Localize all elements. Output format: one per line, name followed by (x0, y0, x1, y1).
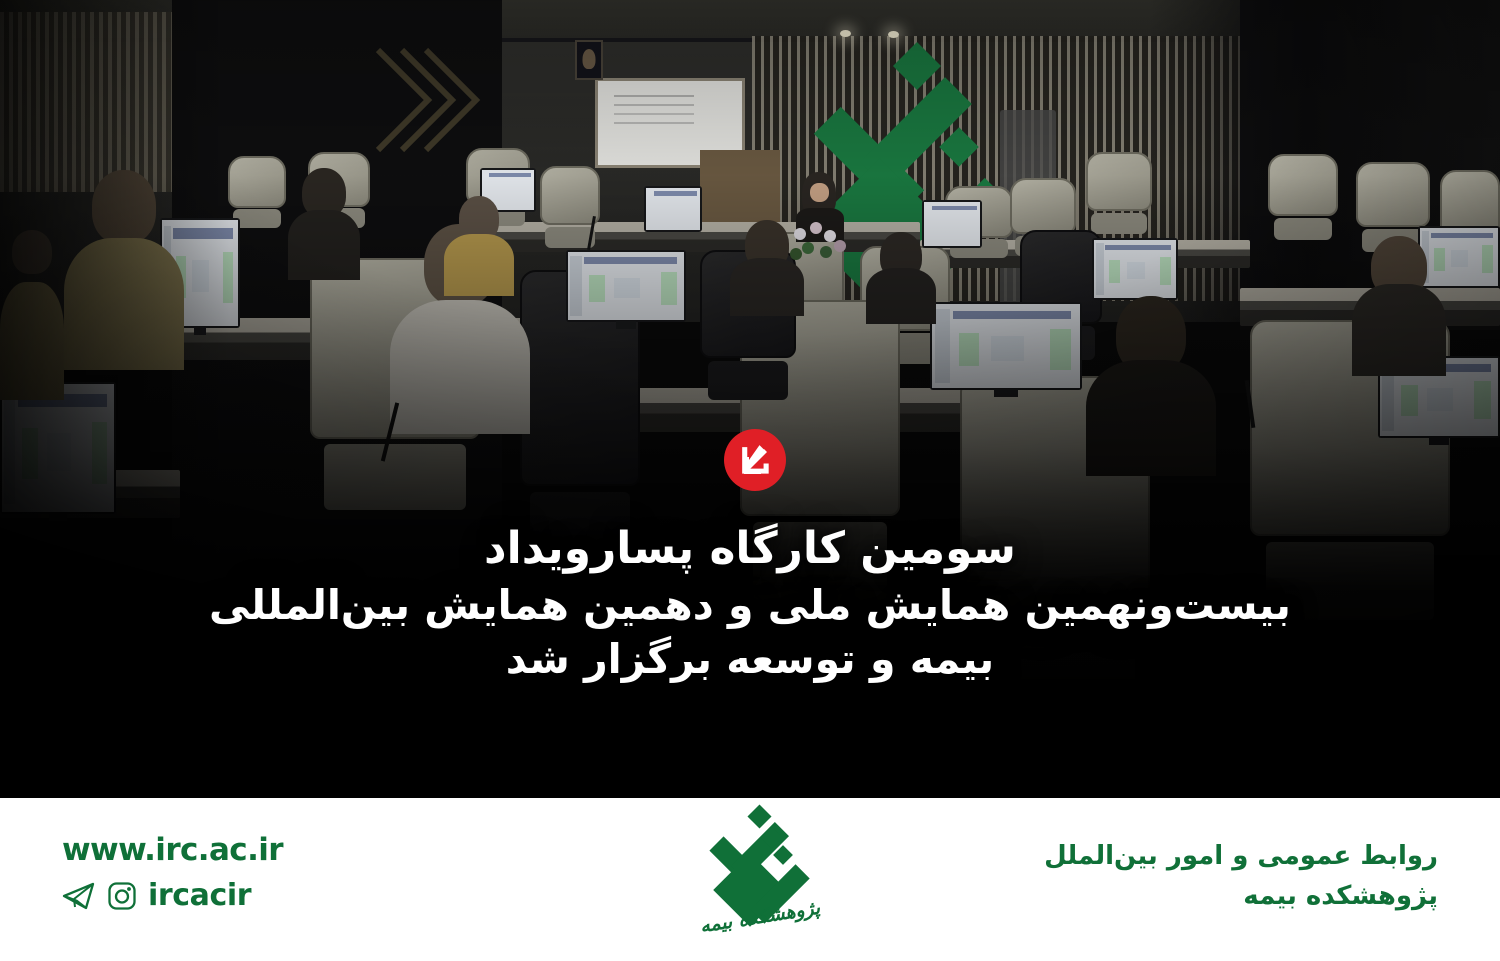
presentation-monitor (0, 382, 116, 514)
presentation-monitor (930, 302, 1082, 390)
headline-line-2: بیست‌ونهمین همایش ملی و دهمین همایش بین‌… (0, 578, 1500, 632)
flower (810, 222, 822, 234)
flower (824, 230, 836, 242)
headline-line-3: بیمه و توسعه برگزار شد (0, 632, 1500, 686)
chair (1086, 152, 1152, 234)
flower (834, 240, 846, 252)
presentation-monitor (1092, 238, 1178, 300)
presentation-monitor (566, 250, 686, 322)
down-left-arrow-badge (724, 429, 786, 491)
wall-slats-left (0, 12, 175, 192)
whiteboard-writing (614, 95, 694, 97)
presentation-monitor (644, 186, 702, 232)
head (12, 230, 52, 274)
torso (288, 210, 360, 280)
audience-member (0, 230, 64, 400)
flower (794, 228, 806, 240)
audience-member (64, 170, 184, 370)
flower (790, 248, 802, 260)
headline-block: سومین کارگاه پسارویداد بیست‌ونهمین همایش… (0, 520, 1500, 686)
insurance-research-center-logo: پژوهشکده بیمه (698, 814, 822, 946)
footer-bar: www.irc.ac.ir ircacir پژوهش (0, 798, 1500, 961)
social-handle[interactable]: ircacir (148, 878, 251, 913)
headline-line-1: سومین کارگاه پسارویداد (0, 520, 1500, 578)
torso (64, 238, 184, 370)
logo-diamonds (706, 814, 814, 910)
audience-member (288, 168, 360, 280)
audience-member (1352, 236, 1446, 376)
ceiling-spotlight (888, 31, 899, 38)
social-row: ircacir (62, 878, 283, 913)
podium (700, 150, 780, 230)
audience-member (1086, 296, 1216, 476)
flower (802, 242, 814, 254)
framed-portrait (575, 40, 603, 80)
arrow-down-left-icon (737, 442, 773, 478)
website-link[interactable]: www.irc.ac.ir (62, 832, 283, 868)
poster-root: سومین کارگاه پسارویداد بیست‌ونهمین همایش… (0, 0, 1500, 961)
torso (390, 300, 530, 434)
head (92, 170, 156, 244)
audience-member (866, 232, 936, 324)
chair (1268, 154, 1338, 240)
portrait-face (583, 49, 596, 69)
telegram-icon[interactable] (62, 881, 96, 911)
department-line-2: پژوهشکده بیمه (1044, 876, 1438, 916)
ceiling-spotlight (840, 30, 851, 37)
torso (866, 268, 936, 324)
flower-bouquet (790, 222, 850, 274)
department-line-1: روابط عمومی و امور بین‌الملل (1044, 836, 1438, 876)
flower (820, 246, 832, 258)
torso (1086, 360, 1216, 476)
footer-contact-block: www.irc.ac.ir ircacir (62, 832, 283, 913)
torso (444, 234, 514, 296)
audience-member (444, 196, 514, 296)
instagram-icon[interactable] (107, 881, 137, 911)
torso (0, 282, 64, 400)
footer-department-block: روابط عمومی و امور بین‌الملل پژوهشکده بی… (1044, 836, 1438, 917)
torso (1352, 284, 1446, 376)
face (810, 183, 829, 202)
